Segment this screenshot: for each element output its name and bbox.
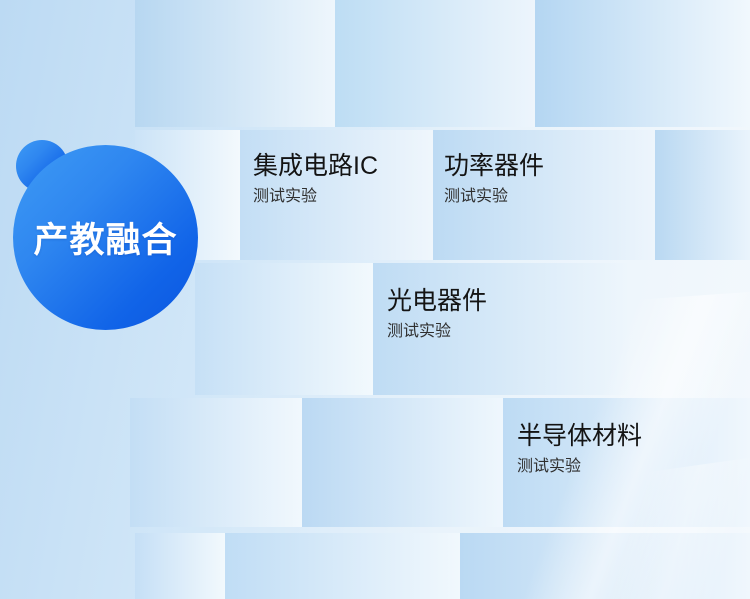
category-title: 光电器件 — [387, 287, 487, 316]
background-tile — [535, 0, 750, 127]
category-label: 光电器件测试实验 — [387, 287, 487, 341]
brand-badge: 产教融合 — [0, 120, 230, 340]
background-tile — [225, 533, 460, 599]
category-subtitle: 测试实验 — [444, 188, 544, 206]
category-label: 功率器件测试实验 — [444, 152, 544, 206]
background-tile — [130, 398, 302, 527]
background-tile — [302, 398, 503, 527]
category-subtitle: 测试实验 — [387, 323, 487, 341]
category-label: 集成电路IC测试实验 — [253, 152, 378, 206]
category-label: 半导体材料测试实验 — [517, 422, 642, 476]
background-tile — [655, 130, 750, 260]
background-tile — [460, 533, 750, 599]
background-tile — [135, 533, 225, 599]
category-subtitle: 测试实验 — [517, 458, 642, 476]
badge-label: 产教融合 — [13, 145, 198, 330]
background-tile — [335, 0, 535, 127]
category-subtitle: 测试实验 — [253, 188, 378, 206]
category-title: 功率器件 — [444, 152, 544, 181]
category-title: 半导体材料 — [517, 422, 642, 451]
poster-canvas: 产教融合 集成电路IC测试实验功率器件测试实验光电器件测试实验半导体材料测试实验 — [0, 0, 750, 599]
background-tile — [135, 0, 335, 127]
category-title: 集成电路IC — [253, 152, 378, 181]
